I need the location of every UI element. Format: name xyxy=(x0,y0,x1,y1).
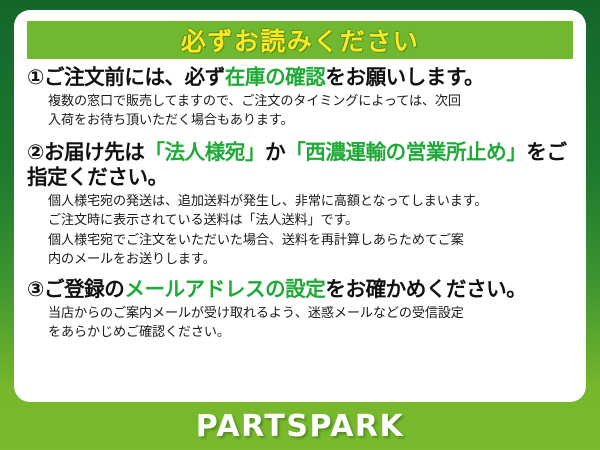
notice-item-1-head-pre: ご注文前には、必ず xyxy=(44,65,225,89)
notice-item-3-highlight: メールアドレスの設定 xyxy=(124,277,325,301)
notice-item-2-body-line-1: 個人様宅宛の発送は、追加送料が発生し、非常に高額となってしまいます。 xyxy=(48,192,573,211)
notice-item-2-body-line-4: 内のメールをお送りします。 xyxy=(48,250,573,269)
notice-item-1-body-line-2: 入荷をお待ち頂いただく場合もあります。 xyxy=(48,111,573,130)
notice-item-2-head-pre: お届け先は xyxy=(44,140,145,164)
notice-item-2-body-line-2: ご注文時に表示されている送料は「法人送料」です。 xyxy=(48,211,573,230)
notice-item-list: ①ご注文前には、必ず在庫の確認をお願いします。 複数の窓口で販売してますので、ご… xyxy=(27,59,573,343)
notice-item-2-marker: ② xyxy=(27,140,44,164)
notice-item-1-body-line-1: 複数の窓口で販売してますので、ご注文のタイミングによっては、次回 xyxy=(48,92,573,111)
notice-title: 必ずお読みください xyxy=(181,22,420,58)
notice-panel: 必ずお読みください ①ご注文前には、必ず在庫の確認をお願いします。 複数の窓口で… xyxy=(14,10,586,402)
notice-item-3-head-post: をお確かめください。 xyxy=(325,277,526,301)
notice-item-3-heading: ③ご登録のメールアドレスの設定をお確かめください。 xyxy=(27,277,573,302)
notice-item-2-head-mid: か xyxy=(265,140,285,164)
notice-item-3-body-line-1: 当店からのご案内メールが受け取れるよう、迷惑メールなどの受信設定 xyxy=(48,304,573,323)
notice-item-3-marker: ③ xyxy=(27,277,44,301)
notice-banner: 必ずお読みください ①ご注文前には、必ず在庫の確認をお願いします。 複数の窓口で… xyxy=(0,0,600,450)
notice-item-2: ②お届け先は「法人様宛」か「西濃運輸の営業所止め」をご指定ください。 個人様宅宛… xyxy=(27,140,573,269)
notice-item-3-body: 当店からのご案内メールが受け取れるよう、迷惑メールなどの受信設定 をあらかじめご… xyxy=(27,304,573,342)
notice-item-3-body-line-2: をあらかじめご確認ください。 xyxy=(48,323,573,342)
footer-bar: PARTSPARK xyxy=(0,402,600,450)
notice-title-bar: 必ずお読みください xyxy=(27,21,573,59)
notice-item-1-body: 複数の窓口で販売してますので、ご注文のタイミングによっては、次回 入荷をお待ち頂… xyxy=(27,92,573,130)
notice-item-1-heading: ①ご注文前には、必ず在庫の確認をお願いします。 xyxy=(27,65,573,90)
notice-item-2-highlight-1: 「法人様宛」 xyxy=(144,140,265,164)
notice-item-2-body-line-3: 個人様宅宛でご注文をいただいた場合、送料を再計算しあらためてご案 xyxy=(48,231,573,250)
notice-item-2-body: 個人様宅宛の発送は、追加送料が発生し、非常に高額となってしまいます。 ご注文時に… xyxy=(27,192,573,269)
notice-item-1-head-post: をお願いします。 xyxy=(325,65,484,89)
notice-item-2-heading: ②お届け先は「法人様宛」か「西濃運輸の営業所止め」をご指定ください。 xyxy=(27,140,573,190)
notice-item-1: ①ご注文前には、必ず在庫の確認をお願いします。 複数の窓口で販売してますので、ご… xyxy=(27,65,573,131)
notice-item-1-highlight: 在庫の確認 xyxy=(225,65,326,89)
notice-item-2-highlight-2: 「西濃運輸の営業所止め」 xyxy=(285,140,526,164)
notice-item-3-head-pre: ご登録の xyxy=(44,277,124,301)
notice-item-1-marker: ① xyxy=(27,65,44,89)
brand-logo-text: PARTSPARK xyxy=(196,409,405,444)
notice-item-3: ③ご登録のメールアドレスの設定をお確かめください。 当店からのご案内メールが受け… xyxy=(27,277,573,343)
